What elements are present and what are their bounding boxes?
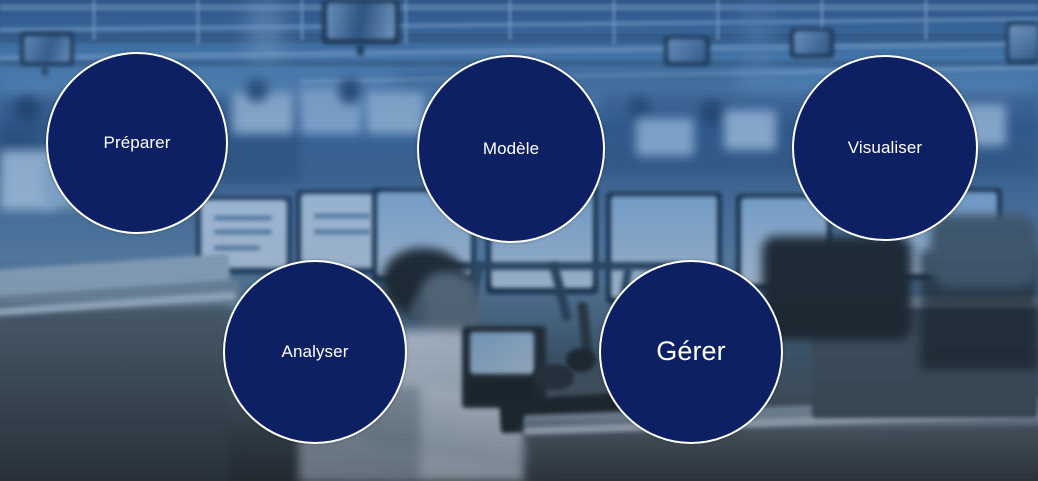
circle-label-modele: Modèle [483, 140, 539, 159]
circle-label-gerer: Gérer [656, 337, 726, 367]
circle-label-preparer: Préparer [104, 134, 171, 153]
circle-visualiser[interactable]: Visualiser [792, 55, 978, 241]
circle-analyser[interactable]: Analyser [223, 260, 407, 444]
circle-modele[interactable]: Modèle [417, 55, 605, 243]
slide-canvas: Préparer Modèle Visualiser Analyser Gére… [0, 0, 1038, 481]
circle-label-analyser: Analyser [282, 343, 349, 362]
circle-label-visualiser: Visualiser [848, 139, 922, 158]
circle-gerer[interactable]: Gérer [599, 260, 783, 444]
circle-preparer[interactable]: Préparer [46, 52, 228, 234]
